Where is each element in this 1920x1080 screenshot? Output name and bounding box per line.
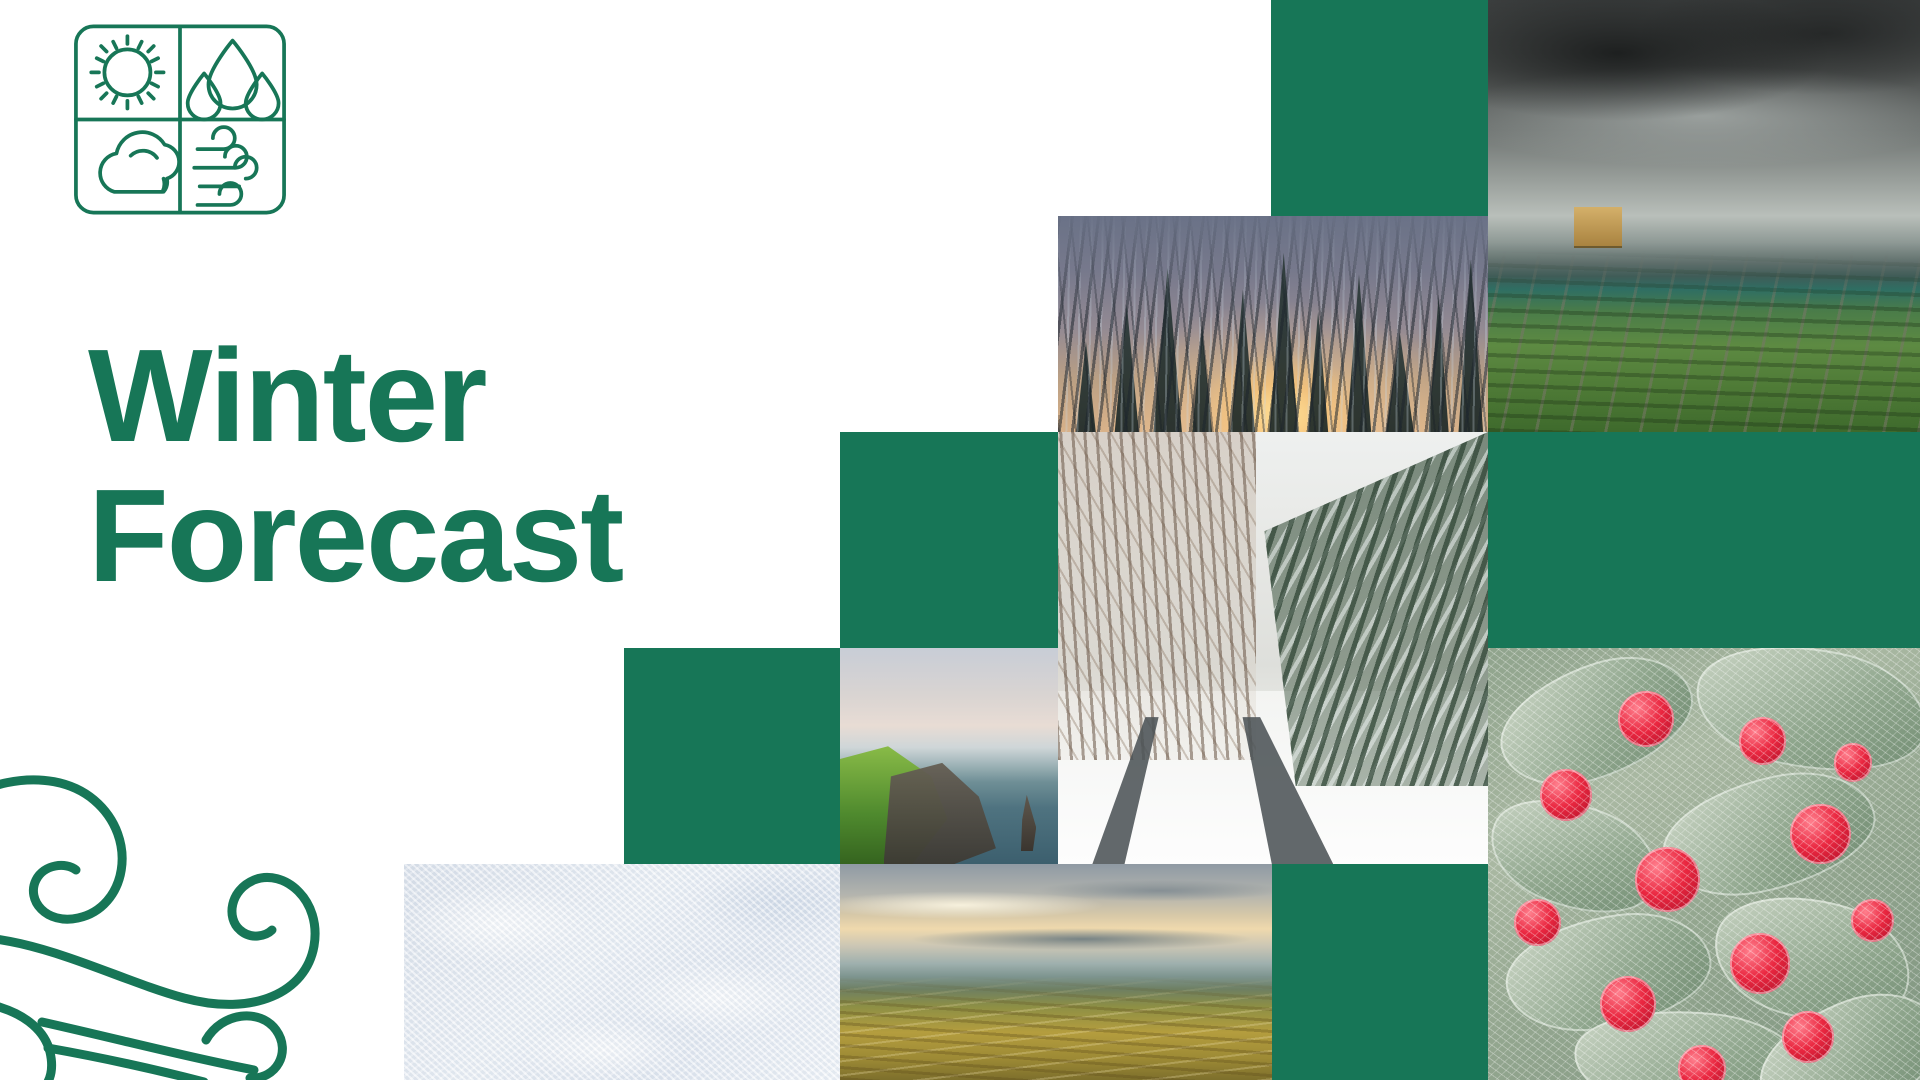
road-canopyL (1058, 432, 1256, 760)
logo-frame (76, 26, 284, 212)
photo-snow-texture-surface (404, 864, 840, 1080)
photo-frost-berries-surface (1488, 648, 1920, 1080)
photo-storm-field-surface (1488, 0, 1920, 432)
pine-tree (1458, 259, 1484, 432)
photo-snowy-road (1058, 432, 1488, 864)
page-title: Winter Forecast (88, 326, 828, 606)
poster-canvas: Winter Forecast (0, 0, 1920, 1080)
photo-sea-cliffs (840, 648, 1058, 864)
photo-pine-dusk (1058, 216, 1488, 432)
pine-tree (1153, 268, 1183, 432)
photo-frost-berries (1488, 648, 1920, 1080)
pine-tree (1269, 253, 1299, 432)
cliff-stack (1021, 795, 1036, 851)
wind-swirl-flourish (0, 740, 384, 1080)
road-canopyR (1264, 432, 1488, 786)
field-hut (1574, 207, 1622, 248)
pine-tree (1114, 305, 1140, 432)
pine-tree (1230, 289, 1256, 432)
photo-sea-cliffs-surface (840, 648, 1058, 864)
photo-moorland (840, 864, 1272, 1080)
green-block-r2c4 (1488, 432, 1920, 648)
pine-tree (1191, 326, 1213, 432)
weather-quad-logo (70, 22, 290, 217)
pine-tree (1075, 341, 1097, 432)
cloud-icon (100, 132, 179, 192)
green-block-r2c1 (840, 432, 1058, 648)
wind-icon (194, 127, 256, 205)
photo-moorland-surface (840, 864, 1272, 1080)
sun-icon (91, 36, 163, 108)
frost-overlay (1488, 648, 1920, 1080)
headline-line-1: Winter (88, 326, 828, 466)
photo-snowy-road-surface (1058, 432, 1488, 864)
photo-pine-dusk-surface (1058, 216, 1488, 432)
photo-storm-field (1488, 0, 1920, 432)
pine-tree (1307, 311, 1329, 432)
green-block-r1c3 (1271, 0, 1488, 216)
green-block-r3c0 (624, 648, 840, 864)
pine-tree (1385, 333, 1415, 432)
photo-snow-texture (404, 864, 840, 1080)
pine-tree (1428, 296, 1450, 432)
raindrops-icon (188, 41, 279, 120)
headline-line-2: Forecast (88, 466, 828, 606)
pine-tree (1346, 274, 1372, 432)
green-block-r4c3 (1272, 864, 1488, 1080)
